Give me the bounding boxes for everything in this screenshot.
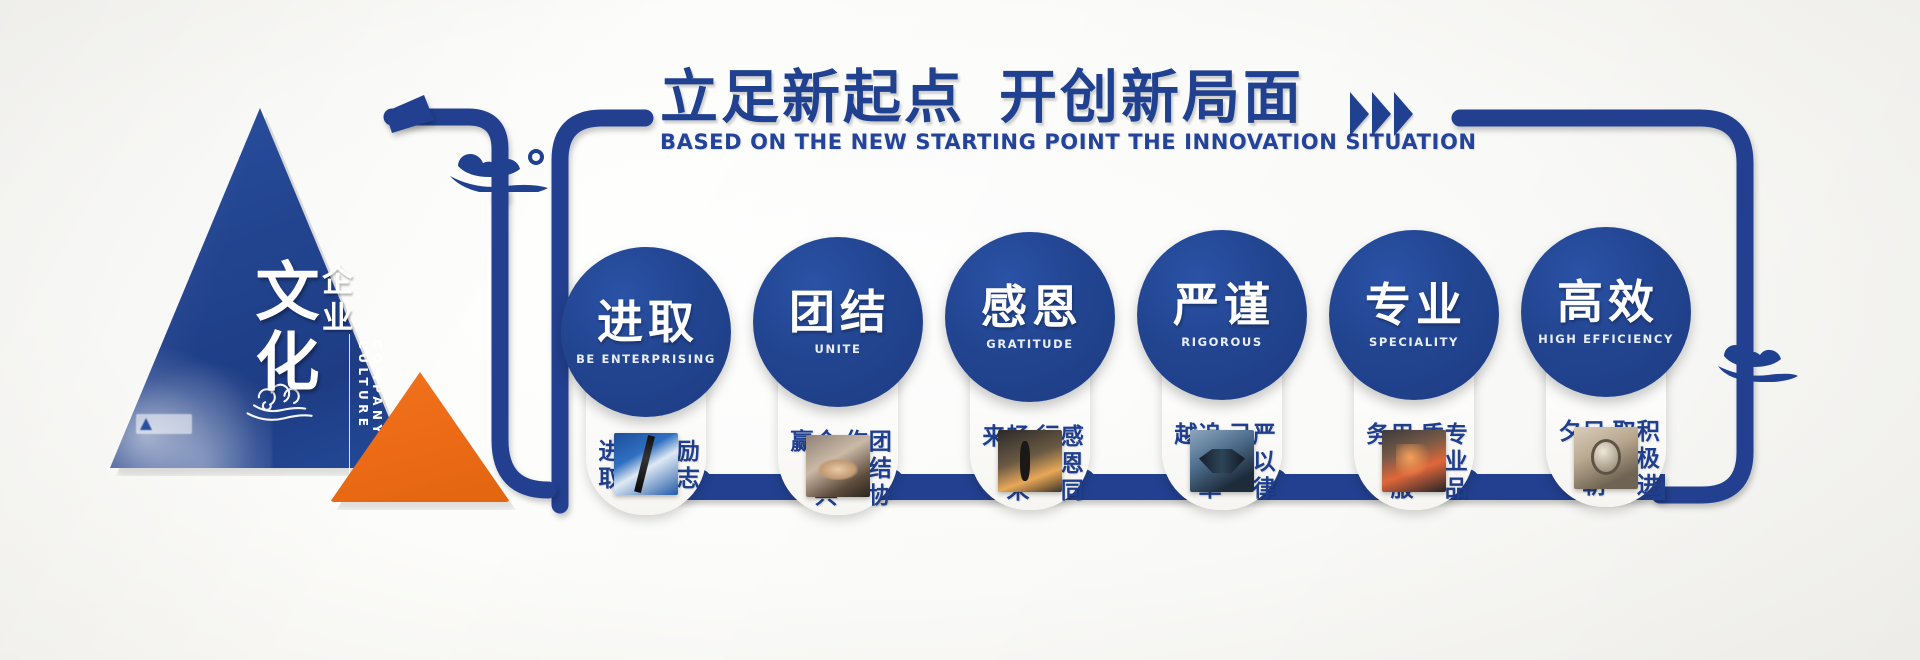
value-card-header: 进取 BE ENTERPRISING [561,247,731,417]
value-card-header: 感恩 GRATITUDE [945,232,1115,402]
chevron-group [1350,92,1413,136]
value-title-en: HIGH EFFICIENCY [1538,332,1674,346]
value-title-en: GRATITUDE [986,337,1073,351]
company-culture-triangle-logo: 文化 企业 COMPANY CULTURE [110,108,410,468]
value-title-en: SPECIALITY [1369,335,1459,349]
value-card-header: 团结 UNITE [753,237,923,407]
triangle-title-large: 文化 [246,258,318,398]
brand-badge [136,414,192,434]
value-photo-thumbnail [614,433,678,495]
value-title-en: UNITE [815,342,862,356]
value-title-en: BE ENTERPRISING [576,352,716,366]
value-photo-thumbnail [1574,427,1638,489]
triangle-title-group: 文化 企业 [246,258,354,398]
value-card[interactable]: 进取 BE ENTERPRISING 励志前行 踊跃进取 [586,255,706,515]
value-title-cn: 团结 [789,289,891,335]
chevron-right-icon [1372,92,1391,136]
value-circle-badge: 团结 UNITE [753,237,923,407]
value-circle-badge: 严谨 RIGOROUS [1137,230,1307,400]
value-circle-badge: 感恩 GRATITUDE [945,232,1115,402]
value-photo-thumbnail [806,435,870,497]
culture-wall-stage: 文化 企业 COMPANY CULTURE 立足新起点开创新局面 BASED O… [0,0,1920,660]
value-card[interactable]: 高效 HIGH EFFICIENCY 积极进取 只争朝夕 [1546,235,1666,507]
right-cloud-icon [1710,330,1800,382]
value-title-cn: 严谨 [1173,282,1275,328]
value-title-cn: 进取 [597,299,699,345]
value-card[interactable]: 团结 UNITE 团结协作 合作共赢 [778,245,898,515]
triangle-title-small: 企业 [317,264,350,338]
value-photo-thumbnail [1190,430,1254,492]
value-card-header: 专业 SPECIALITY [1329,230,1499,400]
value-circle-badge: 专业 SPECIALITY [1329,230,1499,400]
value-title-en: RIGOROUS [1181,335,1262,349]
value-title-cn: 专业 [1365,282,1467,328]
chevron-right-icon [1350,92,1369,136]
value-circle-badge: 高效 HIGH EFFICIENCY [1521,227,1691,397]
value-photo-thumbnail [1382,430,1446,492]
value-card[interactable]: 感恩 GRATITUDE 感恩同行 畅想未来 [970,240,1090,510]
value-card[interactable]: 严谨 RIGOROUS 严以律己 追求卓越 [1162,238,1282,510]
value-card-header: 高效 HIGH EFFICIENCY [1521,227,1691,397]
value-card[interactable]: 专业 SPECIALITY 专业品质 用心服务 [1354,238,1474,510]
value-card-header: 严谨 RIGOROUS [1137,230,1307,400]
header-cloud-icon [440,132,590,192]
chevron-right-icon [1394,92,1413,136]
value-photo-thumbnail [998,430,1062,492]
value-title-cn: 高效 [1557,279,1659,325]
value-circle-badge: 进取 BE ENTERPRISING [561,247,731,417]
value-title-cn: 感恩 [981,284,1083,330]
